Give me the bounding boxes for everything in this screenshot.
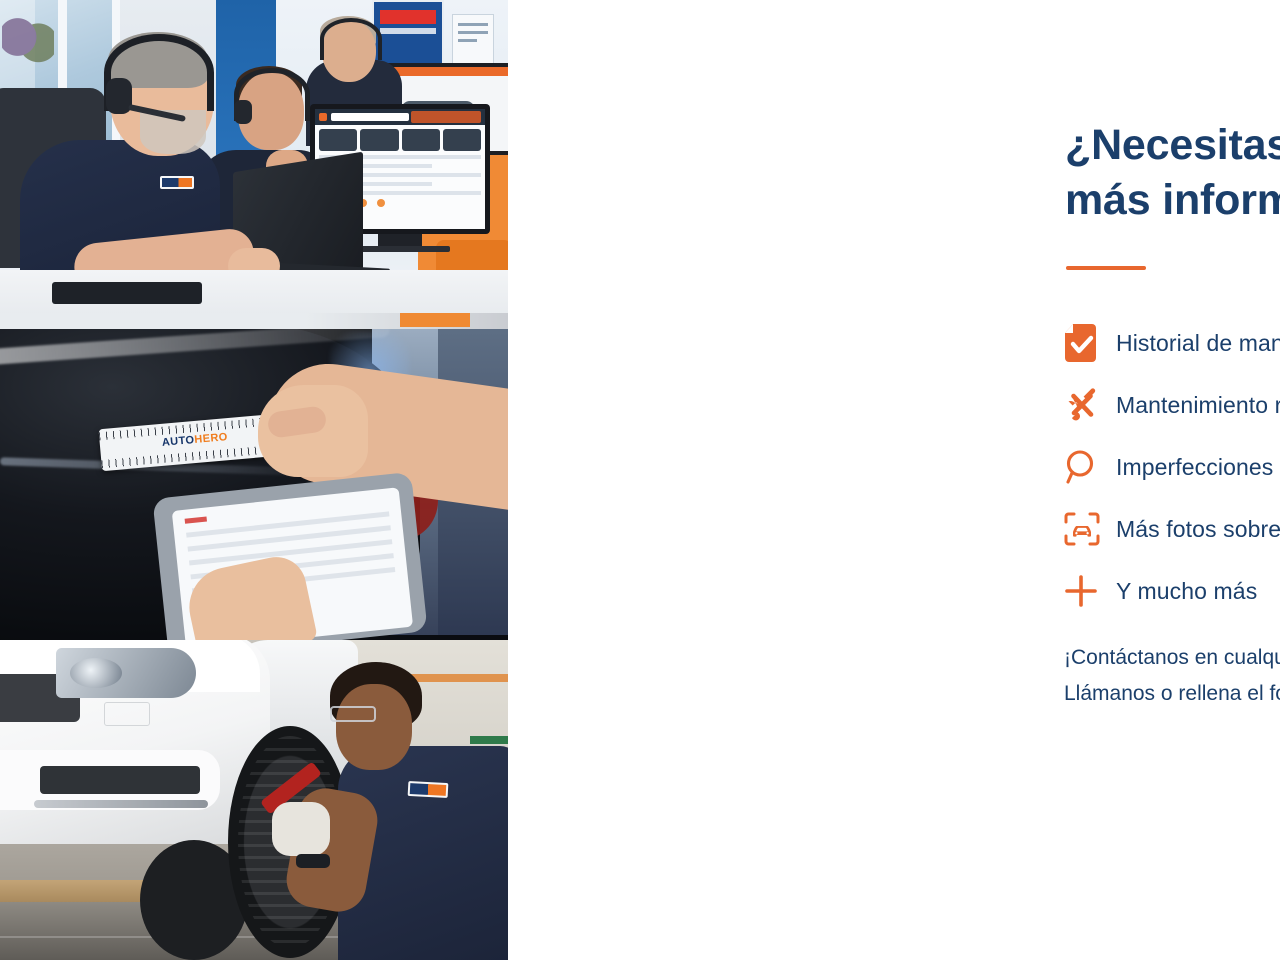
headline-line-1: ¿Necesitas — [1065, 118, 1280, 173]
feature-list: Historial de mantenimientos Mantenimient… — [1064, 312, 1280, 622]
call-center-agents-photo — [0, 0, 508, 313]
content-panel: ¿Necesitas más información? Historial de… — [508, 0, 1280, 960]
feature-item-imperfecciones: Imperfecciones — [1064, 436, 1280, 498]
feature-item-mantenimiento: Mantenimiento realizado — [1064, 374, 1280, 436]
page-title: ¿Necesitas más información? — [1065, 118, 1280, 228]
feature-label: Historial de mantenimientos — [1116, 330, 1280, 357]
feature-label: Más fotos sobre el coche — [1116, 516, 1280, 543]
car-photo-frame-icon — [1064, 512, 1116, 546]
headline-line-2: más información? — [1065, 173, 1280, 228]
wrench-screwdriver-icon — [1064, 387, 1116, 423]
plus-icon — [1064, 574, 1116, 608]
feature-label: Mantenimiento realizado — [1116, 392, 1280, 419]
document-check-icon — [1064, 324, 1116, 362]
magnifier-icon — [1064, 449, 1116, 485]
feature-label: Y mucho más — [1116, 578, 1257, 605]
feature-label: Imperfecciones — [1116, 454, 1273, 481]
contact-line-2: Llámanos o rellena el formulario de cont… — [1064, 676, 1280, 712]
feature-item-historial: Historial de mantenimientos — [1064, 312, 1280, 374]
feature-item-fotos: Más fotos sobre el coche — [1064, 498, 1280, 560]
feature-item-mucho-mas: Y mucho más — [1064, 560, 1280, 622]
car-inspection-photo: AUTOHERO — [0, 313, 508, 640]
workshop-mechanic-photo — [0, 640, 508, 960]
promo-page: AUTOHERO — [0, 0, 1280, 960]
title-divider — [1066, 266, 1146, 270]
contact-line-1: ¡Contáctanos en cualquier momento para m… — [1064, 640, 1280, 676]
photo-column: AUTOHERO — [0, 0, 508, 960]
contact-text: ¡Contáctanos en cualquier momento para m… — [1064, 640, 1280, 712]
